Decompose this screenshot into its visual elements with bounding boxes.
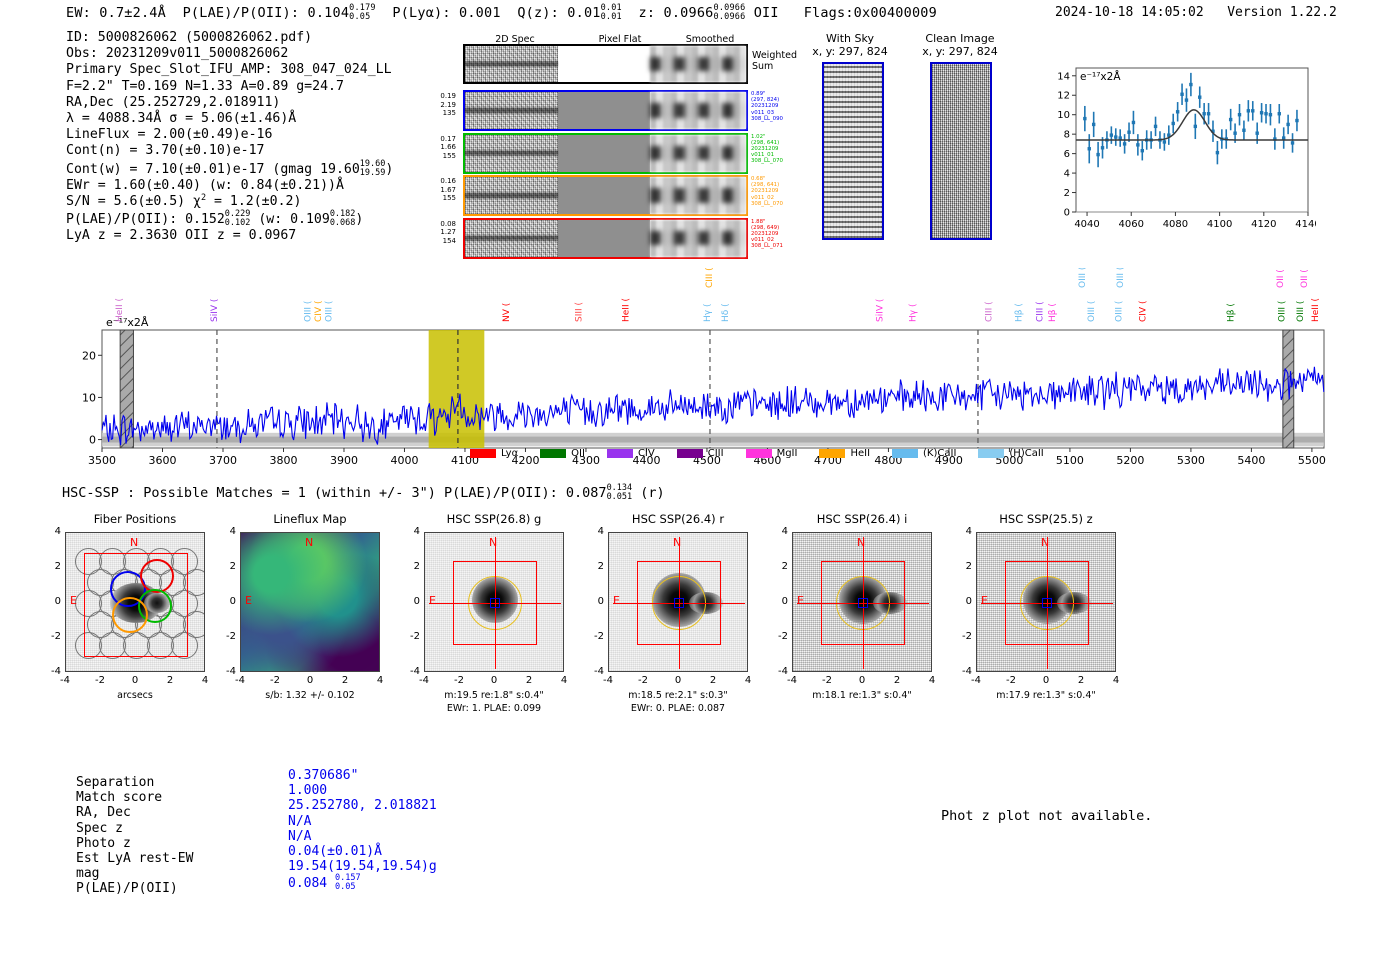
- match-table-label: P(LAE)/P(OII): [76, 881, 193, 896]
- cont-w-text: Cont(w) = 7.10(±0.01)e-17 (gmag 19.60: [66, 162, 360, 177]
- fiber-metric-value: 155: [420, 152, 456, 161]
- fiber-metric-value: 1.27: [420, 228, 456, 237]
- compass-north: N: [857, 536, 865, 549]
- info-line-lambda-sigma: λ = 4088.34Å σ = 5.06(±1.46)Å: [66, 111, 393, 127]
- info-line-snr-chi2: S/N = 5.6(±0.5) χ2 = 1.2(±0.2): [66, 194, 393, 210]
- linefit-flux-annotation: e⁻¹⁷x2Å: [1080, 70, 1121, 83]
- emission-line-label: OIII (: [1278, 301, 1288, 322]
- match-table-value: N/A: [288, 829, 437, 844]
- cutout-ytick: 0: [218, 596, 236, 607]
- cutout-image-image[interactable]: [976, 532, 1116, 672]
- linefit-ytick: 2: [1064, 188, 1070, 199]
- spectrum-xtick: 3800: [269, 454, 297, 467]
- legend-label: Lyα: [501, 448, 518, 459]
- emission-line-label: OII (: [1300, 269, 1310, 288]
- fiber-id-line: 308_LL_071: [751, 243, 811, 249]
- fiber-metric-value: 0.16: [420, 177, 456, 186]
- info-line-ewr: EWr = 1.60(±0.40) (w: 0.84(±0.21))Å: [66, 178, 393, 194]
- emission-line-label: SIII (: [575, 302, 585, 322]
- hsc-header-bounds: 0.1340.051: [607, 484, 633, 502]
- version: Version 1.22.2: [1227, 5, 1337, 20]
- cutout-image-lineflux[interactable]: [240, 532, 380, 672]
- fiber-metric-value: 1.67: [420, 186, 456, 195]
- header-timestamp-version: 2024-10-18 14:05:02 Version 1.22.2: [1055, 5, 1337, 20]
- source-info-block: ID: 5000826062 (5000826062.pdf) Obs: 202…: [66, 30, 393, 245]
- cutout-ytick: 2: [402, 561, 420, 572]
- weighted-sum-smoothed: [650, 46, 746, 82]
- emission-line-label: OII (: [1276, 269, 1286, 288]
- fiber-pixelflat: [558, 92, 651, 129]
- cutout-xtick: -2: [451, 675, 467, 686]
- compass-north: N: [305, 536, 313, 549]
- emission-line-label: OIII (: [1114, 301, 1124, 322]
- cutout-subtitle: m:19.5 re:1.8" s:0.4": [399, 690, 589, 701]
- info-line-primary-slot: Primary Spec_Slot_IFU_AMP: 308_047_024_L…: [66, 62, 393, 78]
- emission-line-label: Hβ (: [1048, 303, 1058, 322]
- fiber-metrics: 0.171.66155: [420, 135, 456, 161]
- fiber-id-line: 308_LL_070: [751, 201, 811, 207]
- clean-image-coords: x, y: 297, 824: [905, 46, 1015, 59]
- cutout-title: Fiber Positions: [50, 512, 220, 526]
- full-spectrum-svg: 0102035003600370038003900400041004200430…: [62, 268, 1332, 478]
- info-plae-w-text: (w: 0.109: [258, 212, 329, 227]
- header-z: z: 0.0966: [639, 5, 714, 21]
- info-line-redshifts: LyA z = 2.3630 OII z = 0.0967: [66, 228, 393, 244]
- emission-line-label: OIII (: [1116, 268, 1126, 288]
- match-table-value: 19.54(19.54,19.54)g: [288, 859, 437, 874]
- linefit-ytick: 10: [1057, 110, 1070, 121]
- header-z-species: OII: [754, 5, 779, 21]
- cutout-ytick: -4: [770, 666, 788, 677]
- spectrum-xtick: 5400: [1237, 454, 1265, 467]
- weighted-sum-row: [463, 44, 748, 84]
- legend-label: CIII: [708, 448, 724, 459]
- linefit-xtick: 4040: [1074, 219, 1099, 230]
- emission-line-label: OIII (: [324, 301, 334, 322]
- emission-line-label: HeII (: [115, 298, 125, 322]
- fiber-metric-value: 155: [420, 194, 456, 203]
- linefit-xtick: 4140: [1295, 219, 1316, 230]
- header-plae-label: P(LAE)/P(OII):: [183, 5, 300, 21]
- timestamp: 2024-10-18 14:05:02: [1055, 5, 1204, 20]
- cutout-ytick: -2: [770, 631, 788, 642]
- linefit-ytick: 0: [1064, 208, 1070, 219]
- cutout-ytick: 4: [402, 526, 420, 537]
- cutout-subtitle: m:18.5 re:2.1" s:0.3": [583, 690, 773, 701]
- legend-item: OII: [540, 448, 585, 459]
- cutout-xtick: 0: [486, 675, 502, 686]
- legend-item: (K)CaII: [892, 448, 956, 459]
- spectrum-xtick: 5500: [1298, 454, 1326, 467]
- fiber-pixelflat: [558, 177, 651, 214]
- cutout-ytick: -2: [954, 631, 972, 642]
- cutout-ytick: 4: [770, 526, 788, 537]
- spectrum-xtick: 5200: [1116, 454, 1144, 467]
- info-plae-close: ): [355, 212, 363, 227]
- info-plae-w-bounds: 0.1820.068: [330, 210, 356, 228]
- fiber-row: [463, 133, 748, 174]
- cutout-xtick: -2: [635, 675, 651, 686]
- line-fit-plot: 02468101214404040604080410041204140e⁻¹⁷x…: [1036, 58, 1316, 238]
- emission-line-label: Hγ (: [909, 304, 919, 322]
- cutout-ytick: -2: [218, 631, 236, 642]
- legend-swatch: [470, 449, 496, 458]
- emission-line-label: Hδ (: [721, 303, 731, 322]
- spectrum-legend: LyαOIICIVCIIIMgIIHeII(K)CaII(H)CaII: [470, 448, 1060, 459]
- cutout-subtitle: EWr: 1. PLAE: 0.099: [399, 703, 589, 714]
- fiber-2dspec: [465, 92, 558, 129]
- match-table-label: Spec z: [76, 821, 193, 836]
- fiber-metrics: 0.081.27154: [420, 220, 456, 246]
- cutout-ytick: 0: [770, 596, 788, 607]
- cutout-xtick: 2: [705, 675, 721, 686]
- emission-line-label: OIII (: [1296, 301, 1306, 322]
- info-plae-text: P(LAE)/P(OII): 0.152: [66, 212, 225, 227]
- cutout-xtick: 0: [1038, 675, 1054, 686]
- header-qz-bounds: 0.010.01: [601, 4, 622, 22]
- compass-north: N: [489, 536, 497, 549]
- spectrum-xtick: 3500: [88, 454, 116, 467]
- hsc-ssp-header: HSC-SSP : Possible Matches = 1 (within +…: [62, 484, 665, 502]
- spectrum-ytick: 0: [89, 434, 96, 447]
- legend-label: (K)CaII: [923, 448, 956, 459]
- cutout-subtitle: m:17.9 re:1.3" s:0.4": [951, 690, 1141, 701]
- fiber-2dspec: [465, 135, 558, 172]
- emission-line-label: CIII (: [984, 301, 994, 322]
- fiber-id-label: 0.68"(298, 641)20231209v011_02308_LL_070: [751, 176, 811, 207]
- cutout-title: HSC SSP(26.8) g: [409, 512, 579, 526]
- match-table-label: Match score: [76, 790, 193, 805]
- compass-north: N: [130, 536, 138, 549]
- header-plae-value: 0.104: [308, 5, 350, 21]
- cutout-xtick: -2: [819, 675, 835, 686]
- cutout-ytick: 0: [43, 596, 61, 607]
- spectrum-ytick: 10: [82, 391, 96, 404]
- cutout-xtick: 4: [372, 675, 388, 686]
- cutout-xtick: 4: [740, 675, 756, 686]
- cutout-ytick: -4: [43, 666, 61, 677]
- legend-item: HeII: [819, 448, 870, 459]
- fiber-metrics: 0.192.19135: [420, 92, 456, 118]
- legend-item: CIV: [607, 448, 655, 459]
- chi2-value: = 1.2(±0.2): [206, 194, 301, 209]
- match-table-label: Photo z: [76, 836, 193, 851]
- header-plae-bounds: 0.1790.05: [349, 4, 376, 22]
- cutout-title: HSC SSP(26.4) i: [777, 512, 947, 526]
- fiber-id-label: 1.88"(298, 649)20231209v011_02308_LL_071: [751, 219, 811, 250]
- compass-east: E: [613, 594, 620, 607]
- emission-line-label: CIV (: [314, 301, 324, 322]
- cutout-xtick: 0: [127, 675, 143, 686]
- cutout-image-image[interactable]: [608, 532, 748, 672]
- compass-north: N: [1041, 536, 1049, 549]
- match-table-value: 0.084 0.1570.05: [288, 874, 437, 892]
- fiber-metric-value: 0.17: [420, 135, 456, 144]
- cutout-ytick: 2: [954, 561, 972, 572]
- cutout-title: HSC SSP(25.5) z: [961, 512, 1131, 526]
- legend-label: (H)CaII: [1009, 448, 1043, 459]
- fiber-id-line: 308_LL_090: [751, 116, 811, 122]
- spectrum-xtick: 5100: [1056, 454, 1084, 467]
- cutout-ytick: -4: [218, 666, 236, 677]
- info-line-obs: Obs: 20231209v011_5000826062: [66, 46, 393, 62]
- cutout-subtitle: arcsecs: [40, 690, 230, 701]
- cutout-ytick: -2: [586, 631, 604, 642]
- clean-image-heading: Clean Image x, y: 297, 824: [905, 33, 1015, 58]
- cutout-ytick: -4: [402, 666, 420, 677]
- cont-w-bounds: 19.6019.59: [360, 160, 386, 178]
- cutout-xtick: -2: [92, 675, 108, 686]
- match-table-label: mag: [76, 866, 193, 881]
- cutout-xtick: 2: [337, 675, 353, 686]
- compass-north: N: [673, 536, 681, 549]
- legend-swatch: [746, 449, 772, 458]
- emission-line-label: HeII (: [1311, 298, 1321, 322]
- linefit-ytick: 12: [1057, 91, 1070, 102]
- fiber-pixelflat: [558, 135, 651, 172]
- with-sky-image: [822, 62, 884, 240]
- cutout-ytick: 4: [43, 526, 61, 537]
- header-summary-line: EW: 0.7±2.4Å P(LAE)/P(OII): 0.1040.1790.…: [66, 4, 937, 22]
- weighted-sum-label: Weighted Sum: [752, 50, 797, 72]
- match-table-label: RA, Dec: [76, 805, 193, 820]
- fiber-metric-value: 0.19: [420, 92, 456, 101]
- cutout-subtitle: s/b: 1.32 +/- 0.102: [215, 690, 405, 701]
- photz-plot-message: Phot z plot not available.: [941, 808, 1152, 824]
- spectrum-xtick: 3900: [330, 454, 358, 467]
- header-qz: Q(z): 0.01: [517, 5, 600, 21]
- cutout-image-image[interactable]: [792, 532, 932, 672]
- hsc-header-text: HSC-SSP : Possible Matches = 1 (within +…: [62, 485, 607, 501]
- emission-line-label: CIII (: [1036, 301, 1046, 322]
- cutout-ytick: 2: [218, 561, 236, 572]
- line-fit-svg: 02468101214404040604080410041204140e⁻¹⁷x…: [1036, 58, 1316, 238]
- spectrum-xtick: 3700: [209, 454, 237, 467]
- legend-swatch: [677, 449, 703, 458]
- fiber-id-line: 308_LL_070: [751, 158, 811, 164]
- cutout-ytick: 0: [402, 596, 420, 607]
- fiber-2dspec: [465, 220, 558, 257]
- compass-east: E: [245, 594, 252, 607]
- compass-east: E: [981, 594, 988, 607]
- fiber-pixelflat: [558, 220, 651, 257]
- cutout-ytick: 4: [586, 526, 604, 537]
- cont-w-close: ): [385, 162, 393, 177]
- cutout-image-fibers[interactable]: [65, 532, 205, 672]
- cutout-xtick: 2: [521, 675, 537, 686]
- clean-image-title: Clean Image: [905, 33, 1015, 46]
- legend-swatch: [978, 449, 1004, 458]
- weighted-sum-label-line1: Weighted: [752, 50, 797, 61]
- compass-east: E: [429, 594, 436, 607]
- emission-line-label: CIV (: [1139, 301, 1149, 322]
- spectrum-xtick: 3600: [148, 454, 176, 467]
- fiber-smoothed: [650, 220, 746, 257]
- match-table-value: 0.370686": [288, 768, 437, 783]
- legend-label: CIV: [638, 448, 655, 459]
- compass-east: E: [797, 594, 804, 607]
- emission-line-label: HeII (: [621, 298, 631, 322]
- fiber-row: [463, 218, 748, 259]
- legend-swatch: [607, 449, 633, 458]
- header-z-bounds: 0.09660.0966: [714, 4, 746, 22]
- cutout-ytick: -2: [402, 631, 420, 642]
- fiber-metric-value: 1.66: [420, 143, 456, 152]
- emission-line-label: Hγ (: [703, 304, 713, 322]
- linefit-ytick: 4: [1064, 169, 1070, 180]
- fiber-smoothed: [650, 177, 746, 214]
- header-flags: Flags:0x00400009: [804, 5, 937, 21]
- cutout-xtick: 2: [162, 675, 178, 686]
- fiber-metric-value: 154: [420, 237, 456, 246]
- compass-east: E: [70, 594, 77, 607]
- spectrum-xtick: 5300: [1177, 454, 1205, 467]
- spectrum-xtick: 4000: [390, 454, 418, 467]
- cutout-subtitle: m:18.1 re:1.3" s:0.4": [767, 690, 957, 701]
- fiber-id-label: 1.02"(298, 641)20231209v011_01308_LL_070: [751, 134, 811, 165]
- linefit-ytick: 14: [1057, 71, 1070, 82]
- cutout-ytick: -4: [586, 666, 604, 677]
- fiber-smoothed: [650, 92, 746, 129]
- match-table-label: Est LyA rest-EW: [76, 851, 193, 866]
- cutout-ytick: -2: [43, 631, 61, 642]
- fiber-smoothed: [650, 135, 746, 172]
- with-sky-title: With Sky: [800, 33, 900, 46]
- cutout-ytick: 2: [43, 561, 61, 572]
- header-plya: P(Lyα): 0.001: [392, 5, 500, 21]
- with-sky-coords: x, y: 297, 824: [800, 46, 900, 59]
- info-line-cont-n: Cont(n) = 3.70(±0.10)e-17: [66, 143, 393, 159]
- match-table-value: 1.000: [288, 783, 437, 798]
- cutout-title: Lineflux Map: [225, 512, 395, 526]
- cutout-ytick: 0: [586, 596, 604, 607]
- spectrum-ytick: 20: [82, 349, 96, 362]
- cutout-image-image[interactable]: [424, 532, 564, 672]
- cutout-xtick: 0: [670, 675, 686, 686]
- emission-line-label: Hβ (: [1015, 303, 1025, 322]
- cutout-xtick: 4: [924, 675, 940, 686]
- cutout-ytick: -4: [954, 666, 972, 677]
- linefit-ytick: 6: [1064, 149, 1070, 160]
- cutout-xtick: 4: [556, 675, 572, 686]
- match-table-value: 25.252780, 2.018821: [288, 798, 437, 813]
- fiber-row: [463, 175, 748, 216]
- legend-item: CIII: [677, 448, 724, 459]
- match-table-label: Separation: [76, 775, 193, 790]
- info-line-radec: RA,Dec (25.252729,2.018911): [66, 95, 393, 111]
- legend-label: OII: [571, 448, 585, 459]
- cutout-xtick: 0: [302, 675, 318, 686]
- legend-item: Lyα: [470, 448, 518, 459]
- legend-label: HeII: [850, 448, 870, 459]
- cutout-ytick: 4: [954, 526, 972, 537]
- emission-line-label: OIII (: [1087, 301, 1097, 322]
- info-line-lineflux: LineFlux = 2.00(±0.49)e-16: [66, 127, 393, 143]
- emission-line-label: SiIV (: [875, 299, 885, 322]
- linefit-xtick: 4100: [1207, 219, 1232, 230]
- info-line-id: ID: 5000826062 (5000826062.pdf): [66, 30, 393, 46]
- legend-swatch: [540, 449, 566, 458]
- weighted-sum-pixelflat: [558, 46, 651, 82]
- weighted-sum-2dspec: [465, 46, 558, 82]
- legend-swatch: [819, 449, 845, 458]
- legend-label: MgII: [777, 448, 798, 459]
- fiber-metric-value: 0.08: [420, 220, 456, 229]
- emission-line-label: NV (: [502, 303, 512, 322]
- linefit-xtick: 4060: [1119, 219, 1144, 230]
- linefit-xtick: 4080: [1163, 219, 1188, 230]
- info-line-params: F=2.2" T=0.169 N=1.33 A=0.89 g=24.7: [66, 79, 393, 95]
- cutout-xtick: -2: [267, 675, 283, 686]
- cutout-ytick: 2: [586, 561, 604, 572]
- legend-item: MgII: [746, 448, 798, 459]
- cutout-ytick: 2: [770, 561, 788, 572]
- full-spectrum-plot: 0102035003600370038003900400041004200430…: [62, 268, 1332, 478]
- cutout-ytick: 0: [954, 596, 972, 607]
- info-line-cont-w: Cont(w) = 7.10(±0.01)e-17 (gmag 19.6019.…: [66, 160, 393, 178]
- cutout-xtick: -2: [1003, 675, 1019, 686]
- fiber-metrics: 0.161.67155: [420, 177, 456, 203]
- cutout-xtick: 0: [854, 675, 870, 686]
- emission-line-label: Hβ (: [1226, 303, 1236, 322]
- clean-image: [930, 62, 992, 240]
- cutout-xtick: 4: [197, 675, 213, 686]
- fiber-id-label: 0.89"(297, 824)20231209v011_03308_LL_090: [751, 91, 811, 122]
- hsc-header-filter: (r): [640, 485, 664, 501]
- cutout-xtick: 2: [889, 675, 905, 686]
- info-line-plae: P(LAE)/P(OII): 0.1520.2290.102 (w: 0.109…: [66, 210, 393, 228]
- cutout-xtick: 2: [1073, 675, 1089, 686]
- match-table-values: 0.370686"1.00025.252780, 2.018821N/AN/A0…: [288, 768, 437, 892]
- linefit-ytick: 8: [1064, 130, 1070, 141]
- info-plae-bounds: 0.2290.102: [225, 210, 251, 228]
- cutout-ytick: 4: [218, 526, 236, 537]
- emission-line-label: OIII (: [1078, 268, 1088, 288]
- fiber-metric-value: 135: [420, 109, 456, 118]
- match-table-labels: SeparationMatch scoreRA, DecSpec zPhoto …: [76, 775, 193, 897]
- spectrum-flux-annotation: e⁻¹⁷x2Å: [106, 316, 149, 329]
- emission-line-label: CIII (: [705, 268, 715, 288]
- header-ew: EW: 0.7±2.4Å: [66, 5, 166, 21]
- fiber-metric-value: 2.19: [420, 101, 456, 110]
- emission-line-label: OIII (: [304, 301, 314, 322]
- weighted-sum-label-line2: Sum: [752, 61, 797, 72]
- fiber-row: [463, 90, 748, 131]
- cutout-title: HSC SSP(26.4) r: [593, 512, 763, 526]
- cutout-subtitle: EWr: 0. PLAE: 0.087: [583, 703, 773, 714]
- cutout-xtick: 4: [1108, 675, 1124, 686]
- legend-item: (H)CaII: [978, 448, 1043, 459]
- linefit-xtick: 4120: [1251, 219, 1276, 230]
- legend-swatch: [892, 449, 918, 458]
- match-plae-bounds: 0.1570.05: [335, 874, 361, 892]
- snr-text: S/N = 5.6(±0.5) χ: [66, 194, 201, 209]
- emission-line-label: SiIV (: [210, 299, 220, 322]
- match-table-value: N/A: [288, 814, 437, 829]
- with-sky-heading: With Sky x, y: 297, 824: [800, 33, 900, 58]
- fiber-2dspec: [465, 177, 558, 214]
- match-table-value: 0.04(±0.01)Å: [288, 844, 437, 859]
